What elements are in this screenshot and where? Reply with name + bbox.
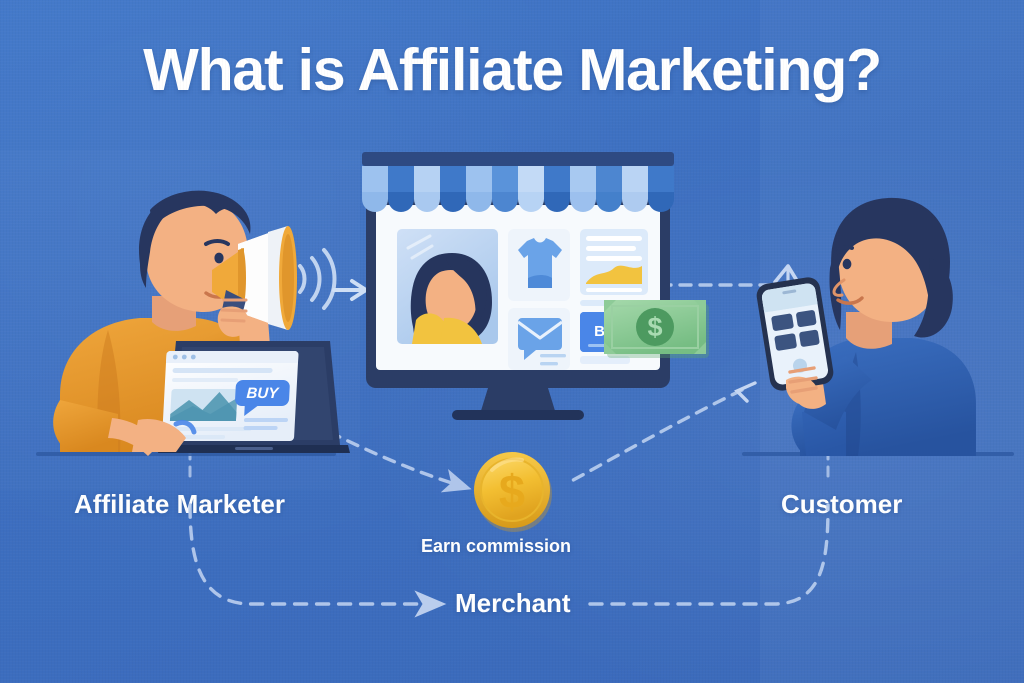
monitor-frame	[366, 192, 670, 388]
merchant-store-illustration: BUY $	[362, 152, 709, 420]
monitor-photo-tile	[397, 229, 498, 344]
label-earn-commission: Earn commission	[421, 536, 571, 557]
label-customer: Customer	[781, 489, 902, 520]
flow-customer-to-commission	[566, 383, 755, 484]
monitor-envelope-tile	[508, 308, 570, 370]
infographic-canvas: What is Affiliate Marketing?	[0, 0, 1024, 683]
dollar-banknote-icon: $	[604, 300, 709, 358]
monitor-buy-button[interactable]: BUY	[580, 312, 648, 364]
page-title: What is Affiliate Marketing?	[0, 36, 1024, 104]
envelope-message-icon	[518, 318, 566, 365]
monitor-content-card	[580, 229, 648, 295]
dollar-coin-icon: $	[474, 452, 552, 532]
monitor-screen-content: BUY	[397, 229, 648, 370]
coin-dollar-glyph: $	[499, 465, 525, 518]
label-affiliate-marketer: Affiliate Marketer	[74, 489, 285, 520]
label-merchant: Merchant	[455, 588, 571, 619]
monitor-card-chart	[586, 266, 642, 284]
monitor-base	[452, 410, 584, 420]
monitor-buy-label: BUY	[594, 323, 626, 340]
monitor-neck	[480, 388, 556, 414]
background-soft-panel	[0, 150, 360, 490]
banknote-dollar-glyph: $	[647, 312, 662, 342]
storefront-awning-icon	[362, 152, 674, 212]
tshirt-product-icon	[518, 238, 562, 288]
monitor-tshirt-tile	[508, 229, 570, 301]
monitor-screen	[376, 205, 660, 370]
